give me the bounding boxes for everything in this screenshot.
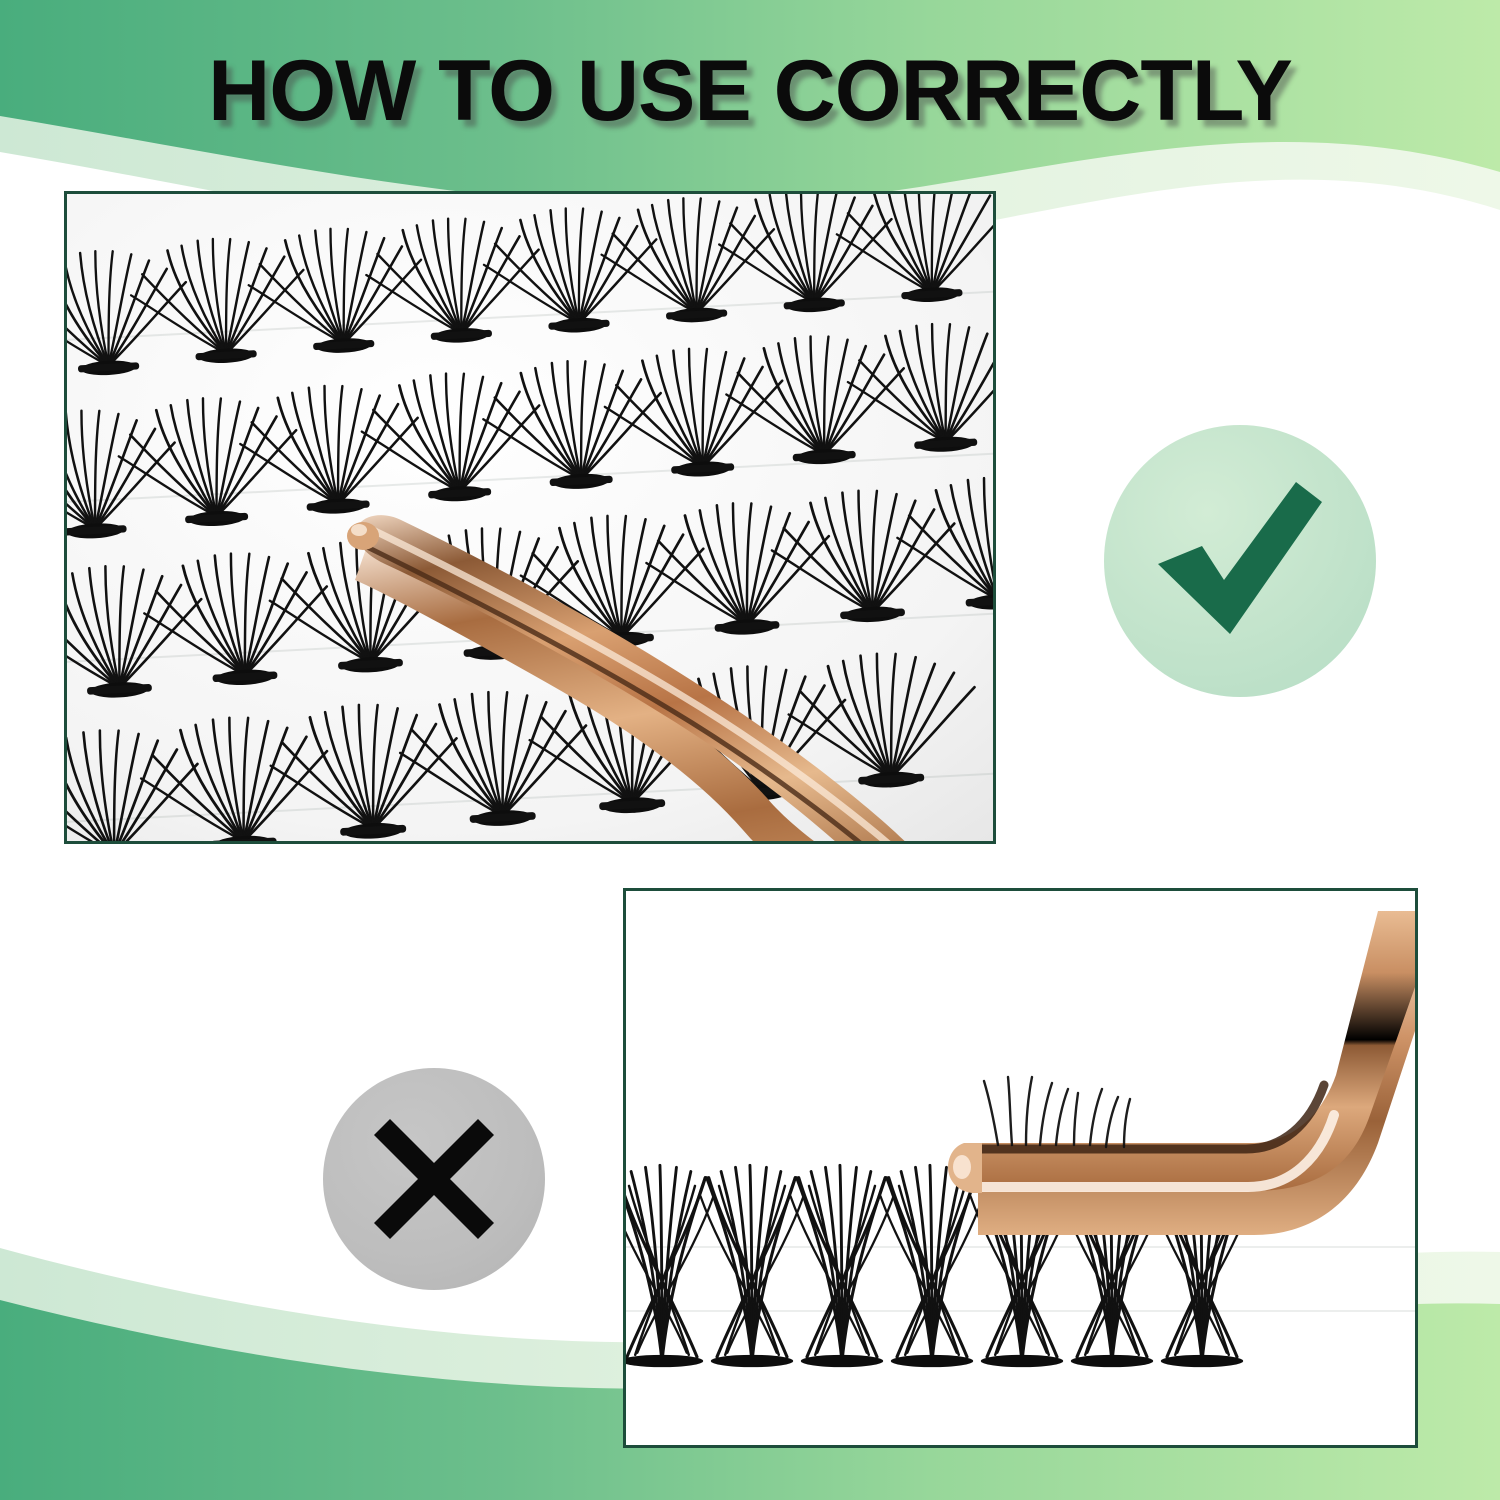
incorrect-usage-illustration <box>626 891 1415 1445</box>
close-icon <box>368 1113 500 1245</box>
page-title-container: HOW TO USE CORRECTLY <box>0 48 1500 134</box>
page-title: HOW TO USE CORRECTLY <box>208 48 1292 134</box>
checkmark-badge <box>1104 425 1376 697</box>
correct-usage-illustration <box>67 194 993 841</box>
correct-usage-photo <box>64 191 996 844</box>
check-icon <box>1150 476 1330 646</box>
cross-badge <box>323 1068 545 1290</box>
incorrect-usage-photo <box>623 888 1418 1448</box>
infographic-page: HOW TO USE CORRECTLY <box>0 0 1500 1500</box>
